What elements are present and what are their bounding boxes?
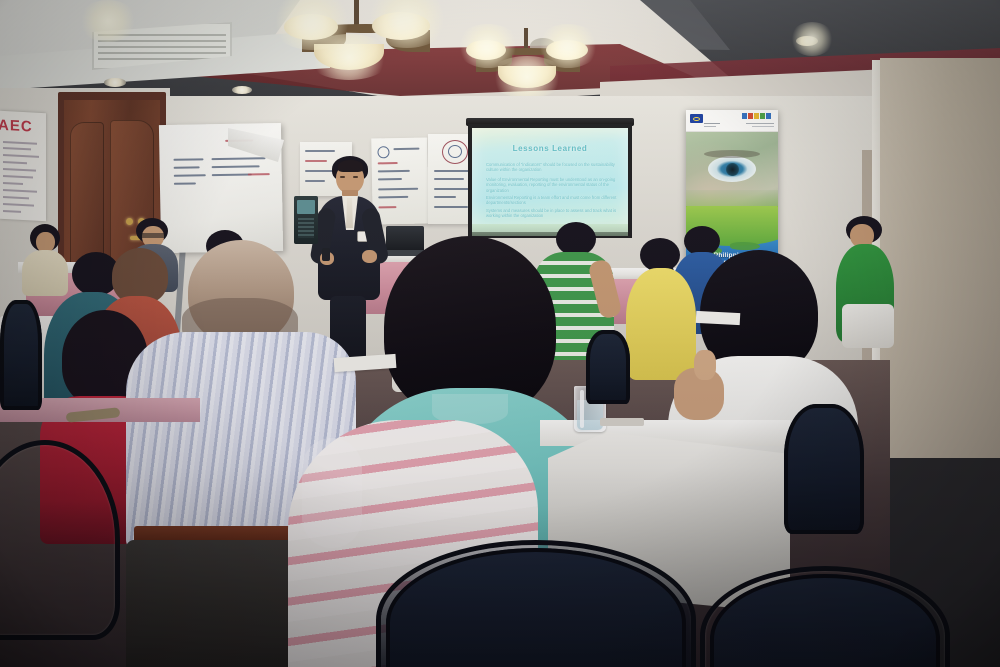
chair-left-back[interactable]	[0, 300, 42, 410]
downlight-1	[104, 78, 126, 87]
slide-bullet-1: Communication of "indicators" should be …	[486, 162, 618, 173]
programme-logo-icon	[742, 113, 774, 121]
chair-right-mid[interactable]	[784, 404, 864, 534]
wall-column-right	[880, 58, 1000, 458]
eyeglasses-icon	[140, 233, 166, 238]
wall-poster-aec: AEC	[0, 111, 46, 221]
poster-heading: AEC	[0, 117, 33, 136]
pen-on-table	[600, 418, 644, 426]
banner-logo-strip	[686, 110, 778, 132]
slide-bullet-2: Value of Environmental Reporting must be…	[486, 177, 618, 193]
light-glare-right	[790, 22, 834, 56]
light-glare-left	[78, 0, 138, 42]
seminar-room-photograph: AEC	[0, 0, 1000, 667]
chair-center-mid[interactable]	[586, 330, 630, 404]
presenter-tie	[346, 198, 353, 228]
slide-bullet-3: Environmental Reporting is a team effort…	[486, 195, 618, 206]
slide-title: Lessons Learned	[472, 144, 628, 153]
smoke-detector-icon	[530, 38, 556, 54]
eu-flag-icon	[690, 114, 703, 123]
av-control-box	[294, 196, 318, 244]
projection-screen: Lessons Learned Communication of "indica…	[472, 128, 628, 232]
papers-right-table	[696, 311, 741, 325]
slide-bullet-4: Systems and measures should be in place …	[486, 208, 618, 219]
downlight-2	[232, 86, 252, 94]
eye-icon	[708, 156, 756, 182]
